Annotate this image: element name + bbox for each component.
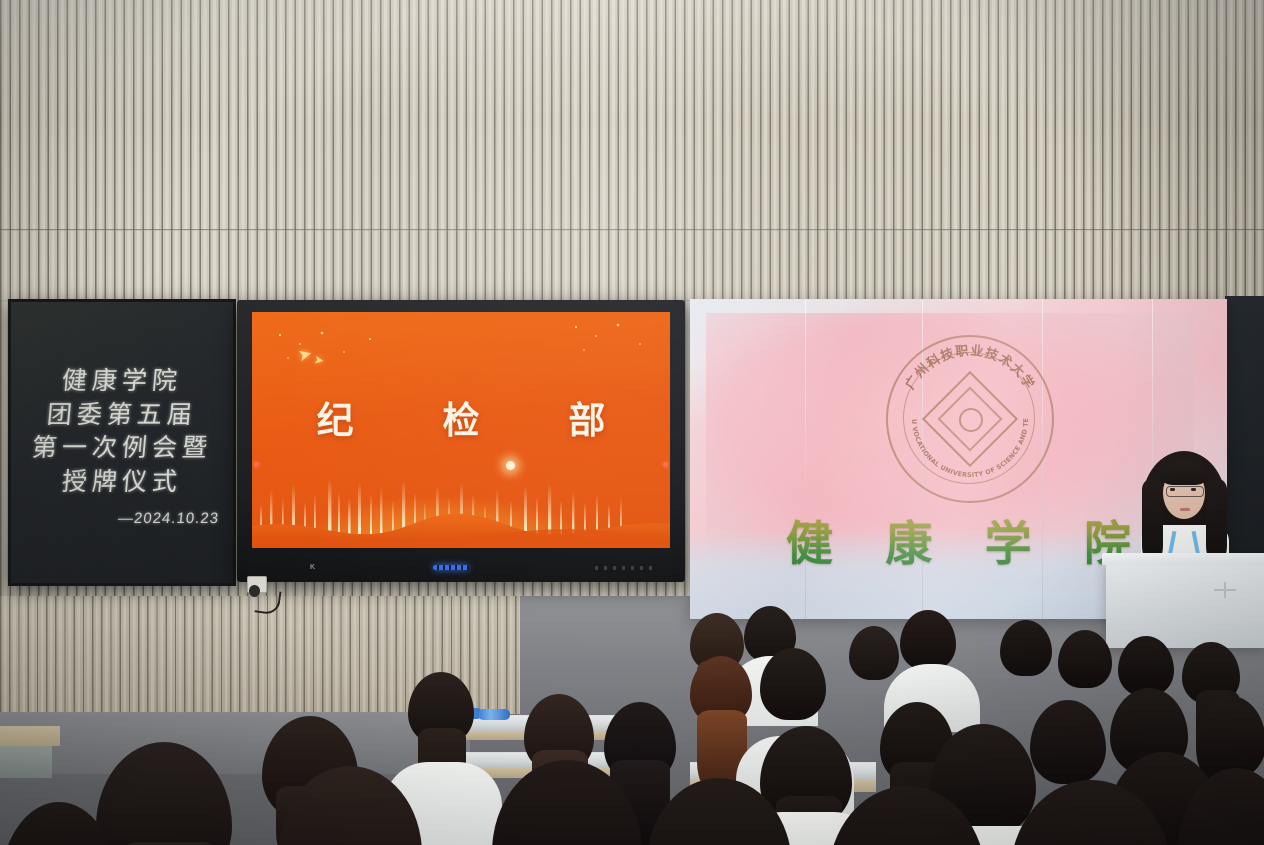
city-skyline-graphic	[252, 464, 670, 548]
head	[849, 626, 899, 680]
chalk-line-2: 团委第五届	[46, 398, 199, 432]
seal-english-arc: GUANGZHOU VOCATIONAL UNIVERSITY OF SCIEN…	[888, 337, 1052, 501]
chalk-line-1: 健康学院	[61, 364, 184, 398]
speaker-bangs	[1160, 461, 1208, 485]
head	[900, 610, 956, 670]
lecture-hall-scene: 健康学院 团委第五届 第一次例会暨 授牌仪式 —2024.10.23 ➤ ➤ 纪…	[0, 0, 1264, 845]
screen-marker-dot-left	[254, 462, 259, 467]
head	[1000, 620, 1052, 676]
sparkle-specks-icon	[274, 330, 394, 366]
head	[1196, 696, 1264, 778]
speaker-eye-right	[1191, 488, 1196, 491]
head	[1030, 700, 1106, 784]
head	[1058, 630, 1112, 688]
chalkboard-writing: 健康学院 团委第五届 第一次例会暨 授牌仪式 —2024.10.23	[11, 302, 233, 583]
head	[760, 648, 826, 720]
chalkboard-left: 健康学院 团委第五届 第一次例会暨 授牌仪式 —2024.10.23	[8, 299, 236, 586]
seal-english-text: GUANGZHOU VOCATIONAL UNIVERSITY OF SCIEN…	[888, 337, 1030, 479]
head	[96, 742, 232, 845]
chalk-date: —2024.10.23	[117, 510, 220, 527]
wall-seam	[0, 229, 1264, 231]
speaker-eye-left	[1170, 488, 1175, 491]
display-screen[interactable]: ➤ ➤ 纪 检 部	[252, 312, 670, 548]
svg-text:GUANGZHOU VOCATIONAL UNIVERSIT: GUANGZHOU VOCATIONAL UNIVERSITY OF SCIEN…	[888, 337, 1030, 479]
speaker-mouth	[1180, 508, 1190, 511]
display-vent-grille	[595, 566, 655, 570]
sparkle-specks-right-icon	[570, 322, 660, 358]
slide-title: 纪 检 部	[252, 390, 670, 444]
desk-item-blue	[478, 709, 510, 720]
head	[1118, 636, 1174, 696]
screen-marker-dot-right	[663, 462, 668, 467]
chalk-line-3: 第一次例会暨	[31, 431, 214, 465]
display-brand-logo: K	[310, 564, 315, 571]
chalk-line-4: 授牌仪式	[61, 465, 184, 499]
smart-display[interactable]: ➤ ➤ 纪 检 部	[237, 300, 685, 582]
seated-students	[0, 590, 1264, 845]
lectern-top	[1102, 553, 1264, 565]
university-seal: 广州科技职业技术大学 GUANGZHOU VOCATIONAL UNIVERSI…	[886, 335, 1054, 503]
display-led-indicator	[433, 565, 469, 570]
